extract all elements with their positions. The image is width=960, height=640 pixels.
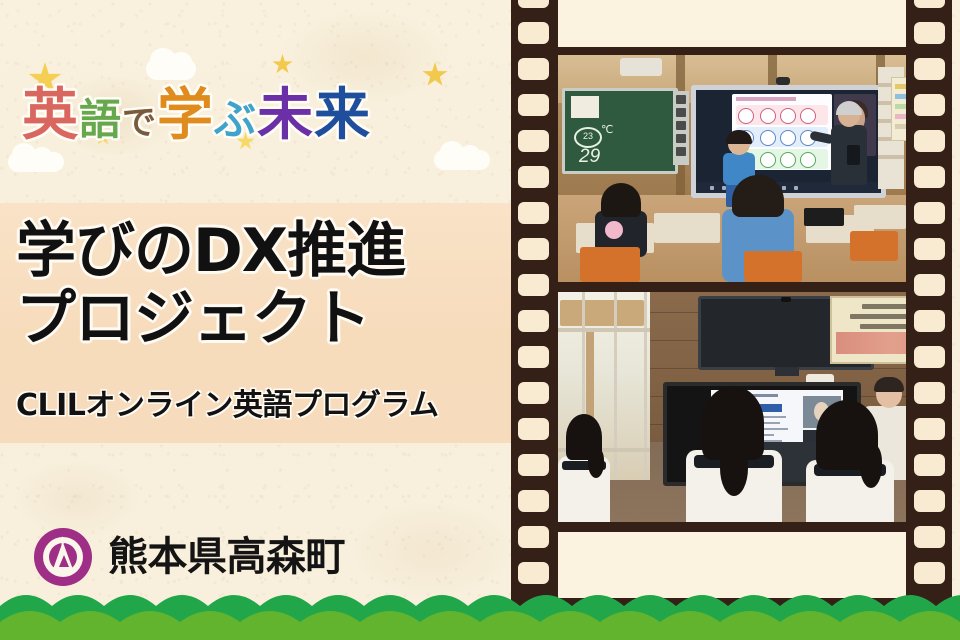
perforation bbox=[518, 22, 549, 44]
photo-elementary-scene: 23 ℃ 29 bbox=[558, 55, 906, 282]
perforation bbox=[518, 58, 549, 80]
photo-juniorhigh-scene bbox=[558, 292, 906, 522]
title-band: 学びのDX推進 プロジェクト CLILオンライン英語プログラム bbox=[0, 203, 512, 443]
student-hair bbox=[726, 130, 752, 144]
perforation bbox=[518, 490, 549, 512]
perforation bbox=[518, 94, 549, 116]
perforation bbox=[518, 0, 549, 8]
teacher-hair bbox=[836, 101, 862, 115]
page-title: 学びのDX推進 プロジェクト bbox=[16, 217, 500, 353]
municipality-footer: 熊本県高森町 bbox=[34, 528, 345, 586]
perforation bbox=[914, 94, 945, 116]
student-hair-tail bbox=[720, 440, 748, 496]
wall-speaker bbox=[620, 58, 662, 76]
student-desk bbox=[854, 205, 906, 229]
classroom-chair bbox=[744, 251, 802, 282]
left-content-column: 英語で学ぶ未来 学びのDX推進 プロジェクト CLILオンライン英語プログラム … bbox=[0, 0, 512, 640]
perforation bbox=[914, 526, 945, 548]
kicker-char-5: ぶ bbox=[214, 92, 257, 148]
kicker-char-2: 語 bbox=[79, 92, 122, 148]
star-top-right-icon bbox=[422, 62, 448, 88]
green-chalkboard: 23 ℃ 29 bbox=[562, 88, 678, 174]
perforation bbox=[914, 310, 945, 332]
perforation bbox=[518, 526, 549, 548]
tv-camera bbox=[781, 297, 791, 302]
kicker-char-4: 学 bbox=[157, 88, 214, 144]
perforation bbox=[518, 130, 549, 152]
photo-juniorhigh-classroom bbox=[558, 292, 906, 522]
perforation bbox=[914, 238, 945, 260]
kicker-char-6: 未 bbox=[257, 88, 314, 144]
whiteboard-webcam bbox=[776, 77, 790, 85]
teacher-standing bbox=[826, 103, 872, 199]
page-title-line1: 学びのDX推進 bbox=[16, 217, 500, 285]
perforation bbox=[518, 274, 549, 296]
perforation bbox=[518, 202, 549, 224]
slide-header-bar bbox=[736, 97, 796, 101]
student-girl-left bbox=[558, 414, 610, 522]
grass-decoration bbox=[0, 580, 960, 640]
student-hair bbox=[732, 175, 784, 217]
perforation bbox=[518, 454, 549, 476]
perforation bbox=[914, 22, 945, 44]
perforation bbox=[914, 490, 945, 512]
perforation-column-right bbox=[914, 0, 945, 606]
chalkboard-number: 29 bbox=[579, 146, 600, 168]
slide-row-1 bbox=[736, 105, 828, 125]
classroom-chair bbox=[580, 247, 640, 282]
shirt-graphic bbox=[605, 221, 623, 239]
perforation bbox=[914, 382, 945, 404]
student-hair bbox=[601, 183, 641, 217]
perforation bbox=[914, 166, 945, 188]
perforation bbox=[914, 130, 945, 152]
perforation bbox=[914, 454, 945, 476]
chalkboard-paper-note bbox=[571, 96, 599, 118]
perforation bbox=[518, 310, 549, 332]
school-goal-banner bbox=[830, 296, 906, 364]
student-girl-center bbox=[686, 386, 782, 522]
window-rail bbox=[558, 328, 650, 332]
film-frame-blank-top bbox=[558, 0, 906, 47]
page-title-line2: プロジェクト bbox=[16, 285, 500, 353]
kicker-title: 英語で学ぶ未来 bbox=[22, 88, 492, 174]
film-strip: 23 ℃ 29 bbox=[511, 0, 952, 606]
window-eave bbox=[560, 300, 644, 326]
perforation bbox=[518, 382, 549, 404]
perforation bbox=[518, 346, 549, 368]
grass-front-layer bbox=[0, 580, 960, 640]
banner-illustration bbox=[836, 332, 906, 354]
perforation bbox=[914, 0, 945, 8]
photo-elementary-classroom: 23 ℃ 29 bbox=[558, 55, 906, 282]
tv-mount bbox=[775, 367, 799, 376]
kicker-chars: 英語で学ぶ未来 bbox=[22, 88, 492, 151]
student-hair-tail bbox=[588, 448, 604, 478]
perforation-column-left bbox=[518, 0, 549, 606]
takamori-town-emblem-icon bbox=[34, 528, 92, 586]
laptop-on-desk bbox=[804, 208, 844, 226]
perforation bbox=[914, 418, 945, 440]
perforation bbox=[914, 202, 945, 224]
teacher-shoulder-bag bbox=[847, 145, 860, 165]
chalkboard-side-panel bbox=[673, 91, 689, 165]
perforation bbox=[518, 238, 549, 260]
student-hair-tail bbox=[860, 444, 882, 488]
perforation bbox=[518, 166, 549, 188]
perforation bbox=[914, 346, 945, 368]
kicker-char-7: 来 bbox=[314, 88, 371, 144]
teacher-hair bbox=[874, 377, 904, 392]
perforation bbox=[914, 58, 945, 80]
page-subtitle: CLILオンライン英語プログラム bbox=[16, 389, 500, 423]
classroom-chair bbox=[850, 231, 898, 261]
star-center-icon bbox=[272, 54, 293, 75]
cloud-top-center-puff-b bbox=[170, 52, 192, 72]
kicker-char-3: で bbox=[122, 95, 157, 151]
perforation bbox=[518, 418, 549, 440]
student-desk bbox=[654, 213, 720, 243]
perforation bbox=[914, 274, 945, 296]
chalkboard-degree-symbol: ℃ bbox=[601, 123, 613, 136]
municipality-name: 熊本県高森町 bbox=[108, 535, 345, 579]
wall-poster bbox=[891, 77, 906, 141]
kicker-char-1: 英 bbox=[22, 88, 79, 144]
chalkboard-temp-circle: 23 bbox=[574, 127, 602, 148]
poster-root: 英語で学ぶ未来 学びのDX推進 プロジェクト CLILオンライン英語プログラム … bbox=[0, 0, 960, 640]
student-girl-right bbox=[806, 400, 894, 522]
